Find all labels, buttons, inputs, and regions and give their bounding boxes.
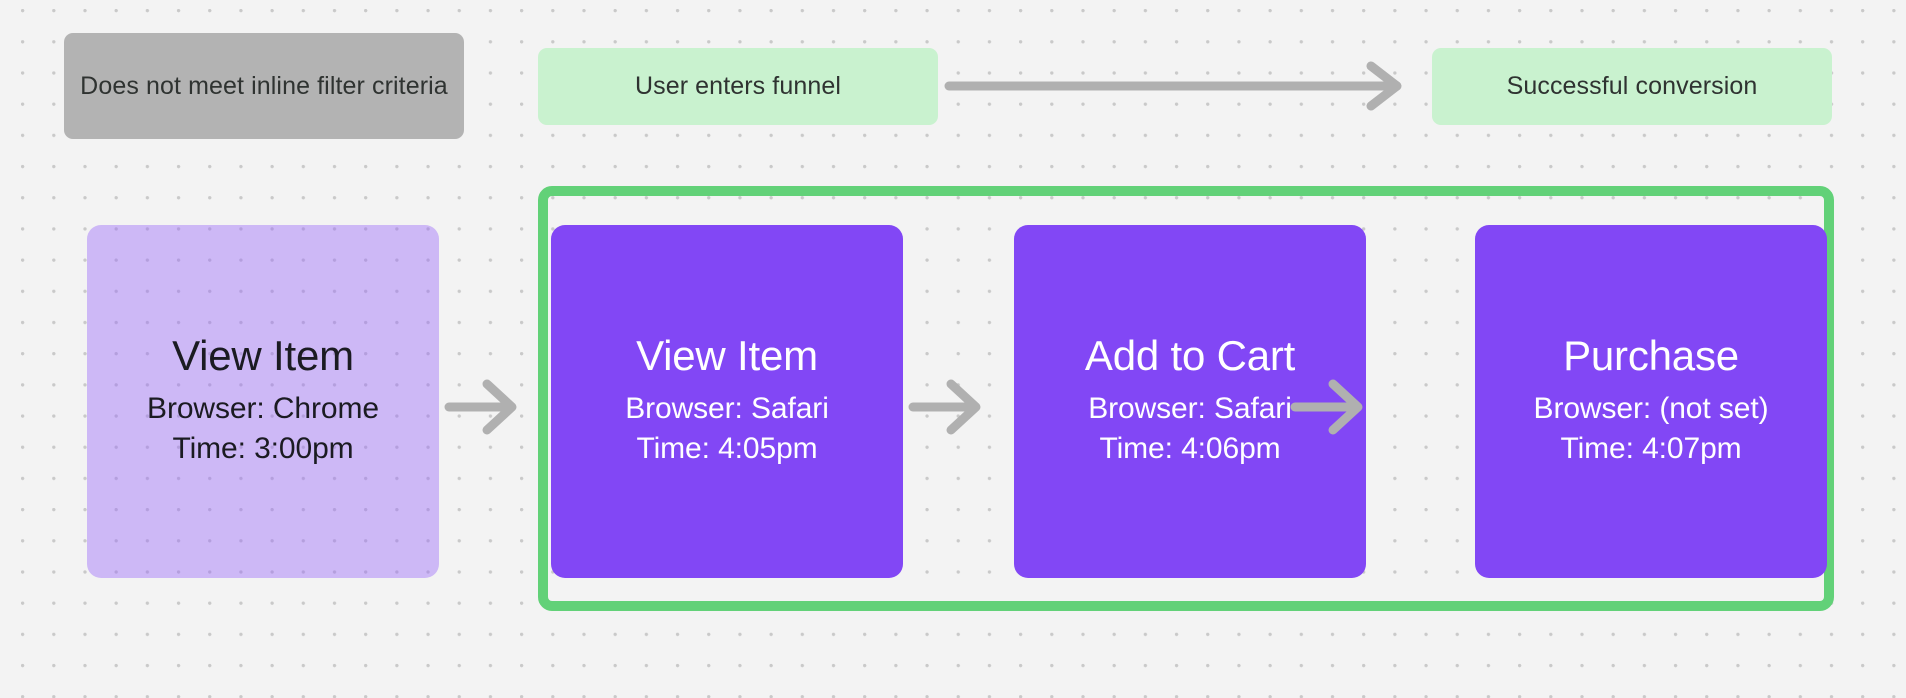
legend-chip-excluded-label: Does not meet inline filter criteria bbox=[80, 70, 448, 103]
event-card-step-1-title: View Item bbox=[636, 334, 818, 379]
event-card-step-3-title: Purchase bbox=[1563, 334, 1739, 379]
event-card-step-2-title: Add to Cart bbox=[1085, 334, 1295, 379]
event-card-step-1-browser: Browser: Safari bbox=[625, 389, 829, 429]
arrow-right-icon-step-2-to-step-3 bbox=[1290, 378, 1368, 436]
arrow-right-icon-step-1-to-step-2 bbox=[908, 378, 986, 436]
event-card-excluded-title: View Item bbox=[172, 334, 354, 379]
event-card-step-2-time: Time: 4:06pm bbox=[1099, 429, 1280, 469]
event-card-step-1: View Item Browser: Safari Time: 4:05pm bbox=[551, 225, 903, 578]
diagram-canvas: Does not meet inline filter criteria Use… bbox=[0, 0, 1906, 698]
legend-chip-funnel-entry: User enters funnel bbox=[538, 48, 938, 125]
event-card-step-3: Purchase Browser: (not set) Time: 4:07pm bbox=[1475, 225, 1827, 578]
legend-chip-conversion-label: Successful conversion bbox=[1507, 70, 1758, 103]
event-card-step-2-browser: Browser: Safari bbox=[1088, 389, 1292, 429]
legend-chip-funnel-entry-label: User enters funnel bbox=[635, 70, 841, 103]
legend-chip-excluded: Does not meet inline filter criteria bbox=[64, 33, 464, 139]
event-card-excluded: View Item Browser: Chrome Time: 3:00pm bbox=[87, 225, 439, 578]
event-card-step-3-browser: Browser: (not set) bbox=[1534, 389, 1769, 429]
event-card-step-1-time: Time: 4:05pm bbox=[636, 429, 817, 469]
event-card-step-3-time: Time: 4:07pm bbox=[1560, 429, 1741, 469]
arrow-right-icon-excluded-to-step-1 bbox=[444, 378, 522, 436]
event-card-excluded-browser: Browser: Chrome bbox=[147, 389, 379, 429]
arrow-right-icon-funnel-to-conversion bbox=[944, 62, 1424, 110]
legend-chip-conversion: Successful conversion bbox=[1432, 48, 1832, 125]
event-card-excluded-time: Time: 3:00pm bbox=[172, 429, 353, 469]
